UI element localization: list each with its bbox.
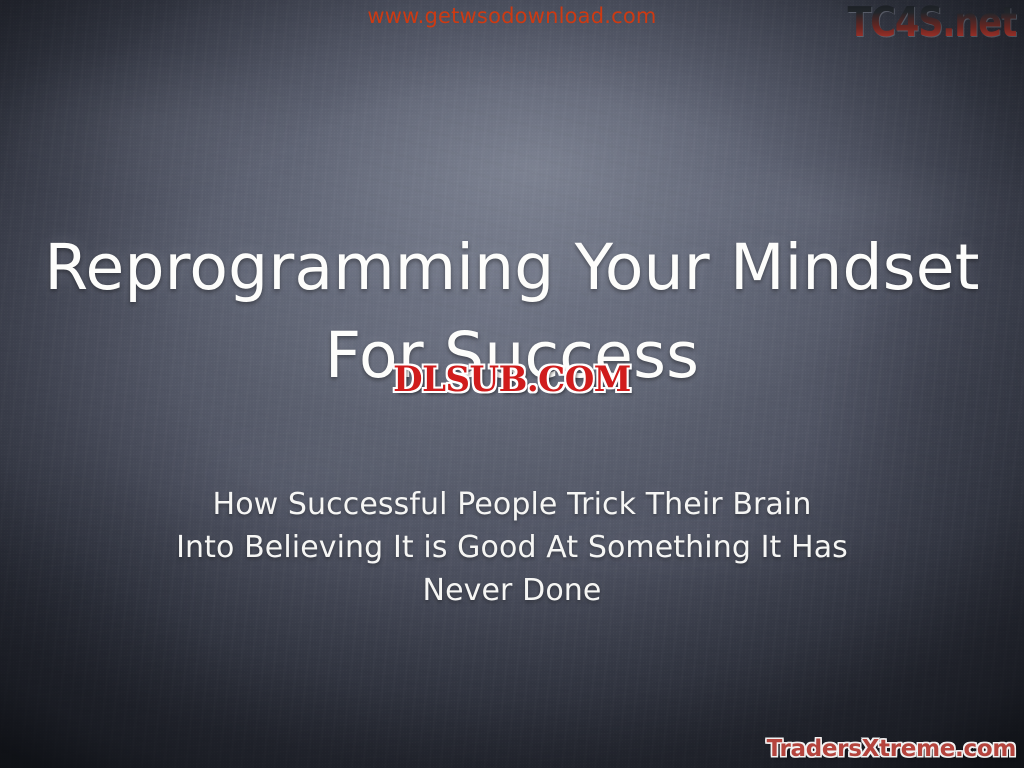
watermark-tc4s-logo: TC4S.net [847,0,1016,46]
slide-subtitle-line-2: Into Believing It is Good At Something I… [0,526,1024,569]
slide-title-line-1: Reprogramming Your Mindset [0,224,1024,312]
slide-subtitle: How Successful People Trick Their Brain … [0,483,1024,612]
slide-subtitle-line-3: Never Done [0,569,1024,612]
watermark-tradersxtreme-logo: TradersXtreme.com [767,734,1016,764]
slide-content: www.getwsodownload.com TC4S.net Reprogra… [0,0,1024,768]
presentation-slide: www.getwsodownload.com TC4S.net Reprogra… [0,0,1024,768]
watermark-dlsub-logo: DLSUB.COM [15,358,1008,402]
slide-subtitle-line-1: How Successful People Trick Their Brain [0,483,1024,526]
